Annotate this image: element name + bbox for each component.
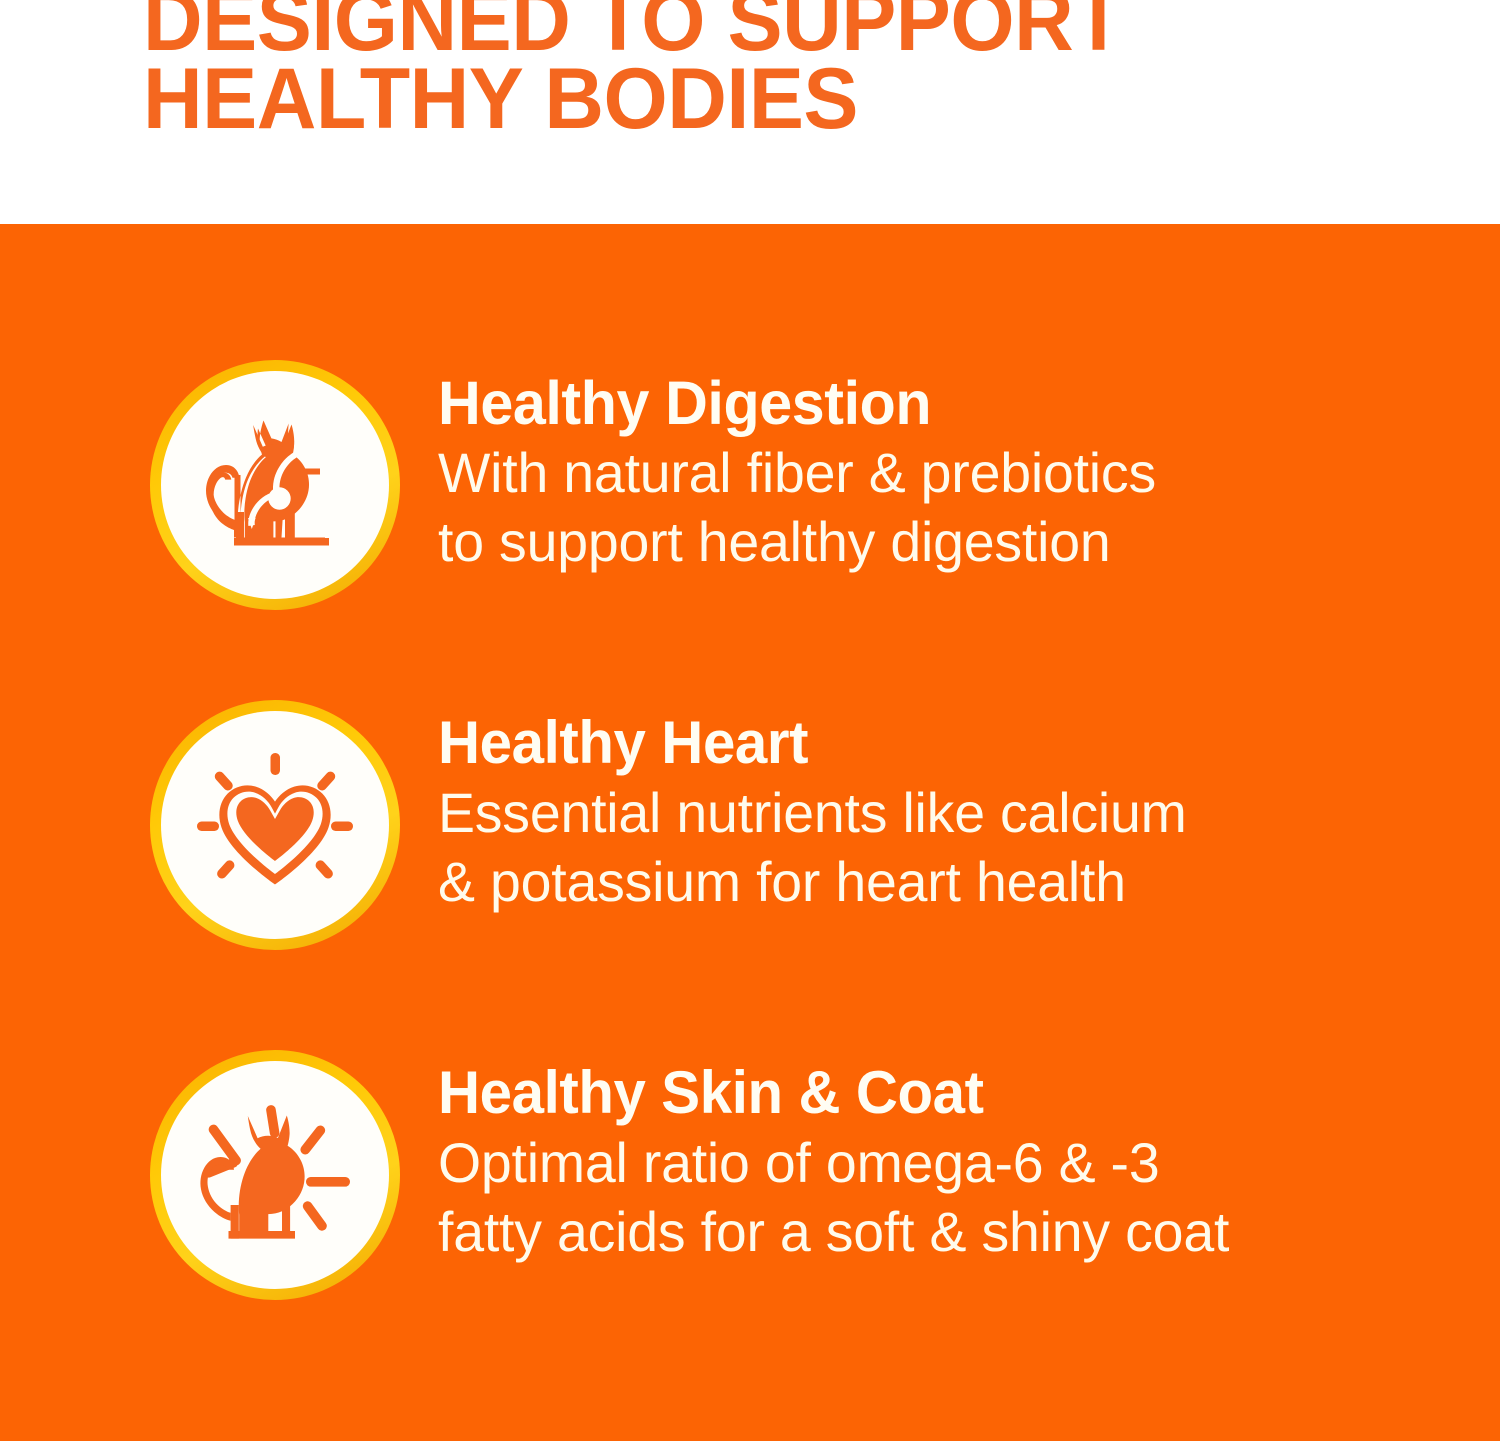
benefit-item-digestion: Healthy Digestion With natural fiber & p… <box>0 360 1500 610</box>
benefit-heading: Healthy Heart <box>438 712 1418 774</box>
benefit-text-heart: Healthy Heart Essential nutrients like c… <box>438 712 1448 916</box>
icon-badge-heart <box>150 700 400 950</box>
benefit-description: Optimal ratio of omega-6 & -3 fatty acid… <box>438 1128 1438 1266</box>
benefit-description: Essential nutrients like calcium & potas… <box>438 778 1438 916</box>
icon-badge-digestion <box>150 360 400 610</box>
benefit-text-digestion: Healthy Digestion With natural fiber & p… <box>438 372 1448 576</box>
header-banner: DESIGNED TO SUPPORT HEALTHY BODIES <box>0 0 1500 224</box>
benefit-item-skin-coat: Healthy Skin & Coat Optimal ratio of ome… <box>0 1050 1500 1300</box>
page-title: DESIGNED TO SUPPORT HEALTHY BODIES <box>143 0 1295 138</box>
benefit-text-skin-coat: Healthy Skin & Coat Optimal ratio of ome… <box>438 1062 1448 1266</box>
cat-shiny-coat-icon <box>161 1061 389 1289</box>
benefits-panel: Healthy Digestion With natural fiber & p… <box>0 224 1500 1441</box>
cat-digestion-icon <box>161 371 389 599</box>
benefit-heading: Healthy Skin & Coat <box>438 1062 1418 1124</box>
promo-graphic: DESIGNED TO SUPPORT HEALTHY BODIES <box>0 0 1500 1441</box>
benefit-description: With natural fiber & prebiotics to suppo… <box>438 438 1438 576</box>
icon-badge-skin-coat <box>150 1050 400 1300</box>
radiant-heart-icon <box>161 711 389 939</box>
benefit-heading: Healthy Digestion <box>438 372 1418 434</box>
benefit-item-heart: Healthy Heart Essential nutrients like c… <box>0 700 1500 950</box>
